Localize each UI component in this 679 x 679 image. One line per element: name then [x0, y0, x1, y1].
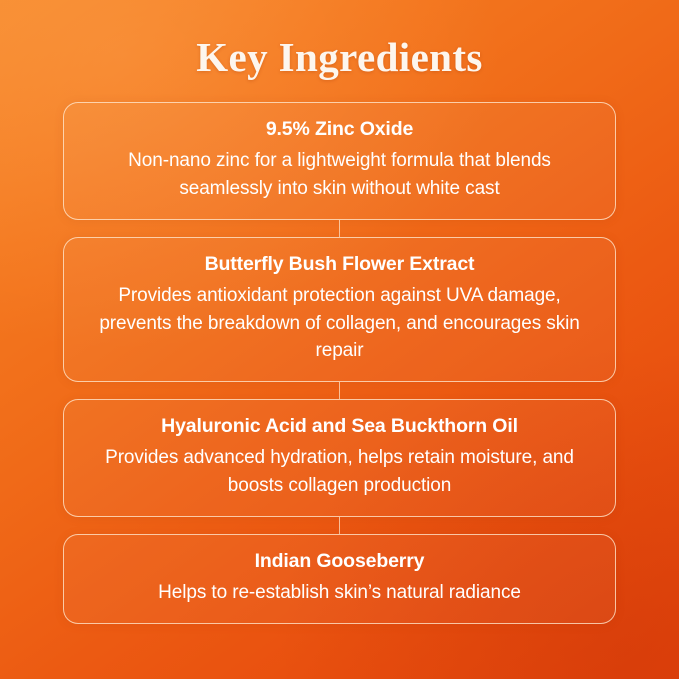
- ingredient-card-hyaluronic-acid-sea-buckthorn-oil: Hyaluronic Acid and Sea Buckthorn Oil Pr…: [63, 399, 616, 517]
- card-connector-line: [339, 517, 340, 534]
- card-connector-line: [339, 382, 340, 399]
- ingredient-description: Provides advanced hydration, helps retai…: [90, 444, 589, 499]
- page-title: Key Ingredients: [196, 34, 483, 81]
- ingredient-title: Indian Gooseberry: [90, 548, 589, 574]
- ingredient-title: 9.5% Zinc Oxide: [90, 116, 589, 142]
- ingredient-card-zinc-oxide: 9.5% Zinc Oxide Non-nano zinc for a ligh…: [63, 102, 616, 220]
- ingredient-title: Butterfly Bush Flower Extract: [90, 251, 589, 277]
- ingredient-title: Hyaluronic Acid and Sea Buckthorn Oil: [90, 413, 589, 439]
- ingredient-card-butterfly-bush-flower-extract: Butterfly Bush Flower Extract Provides a…: [63, 237, 616, 382]
- ingredient-description: Non-nano zinc for a lightweight formula …: [90, 147, 589, 202]
- ingredients-poster: Key Ingredients 9.5% Zinc Oxide Non-nano…: [0, 0, 679, 679]
- card-connector-line: [339, 220, 340, 237]
- ingredient-description: Provides antioxidant protection against …: [90, 282, 589, 365]
- ingredient-card-indian-gooseberry: Indian Gooseberry Helps to re-establish …: [63, 534, 616, 624]
- ingredient-description: Helps to re-establish skin’s natural rad…: [90, 579, 589, 607]
- ingredient-card-stack: 9.5% Zinc Oxide Non-nano zinc for a ligh…: [63, 102, 616, 623]
